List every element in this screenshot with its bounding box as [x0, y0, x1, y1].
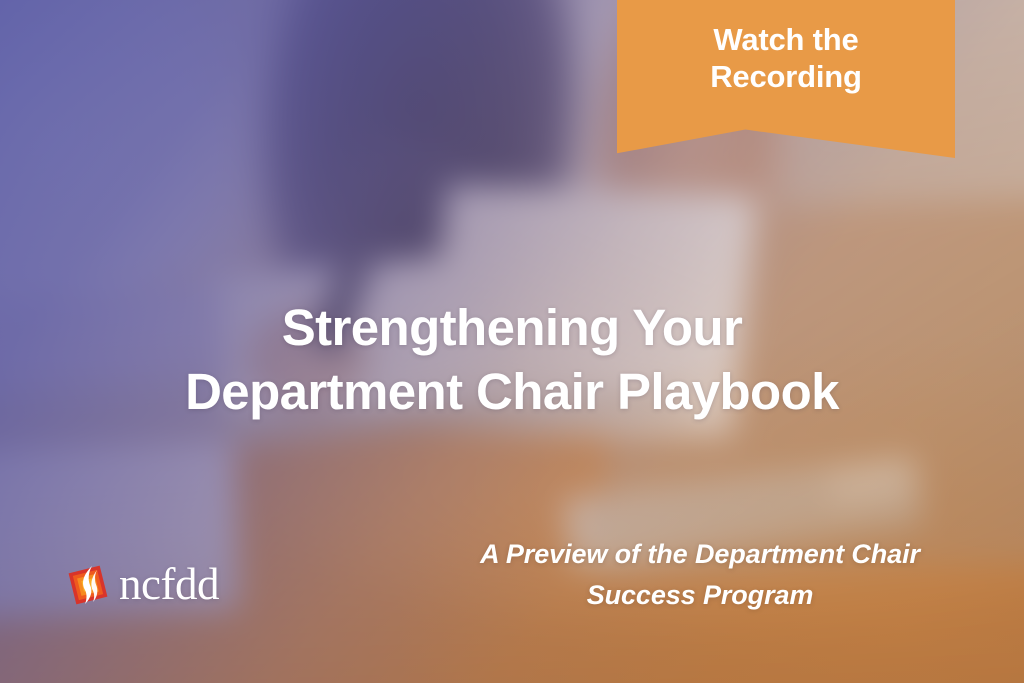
- page-title: Strengthening Your Department Chair Play…: [150, 296, 874, 425]
- flame-diamond-icon: [66, 563, 110, 607]
- ncfdd-logo[interactable]: ncfdd: [66, 562, 219, 607]
- watch-the-recording-ribbon[interactable]: Watch the Recording: [617, 0, 955, 158]
- ncfdd-wordmark: ncfdd: [119, 562, 219, 607]
- page-subtitle: A Preview of the Department Chair Succes…: [444, 534, 956, 616]
- ribbon-label: Watch the Recording: [710, 22, 862, 95]
- promo-card: Watch the Recording Strengthening Your D…: [0, 0, 1024, 683]
